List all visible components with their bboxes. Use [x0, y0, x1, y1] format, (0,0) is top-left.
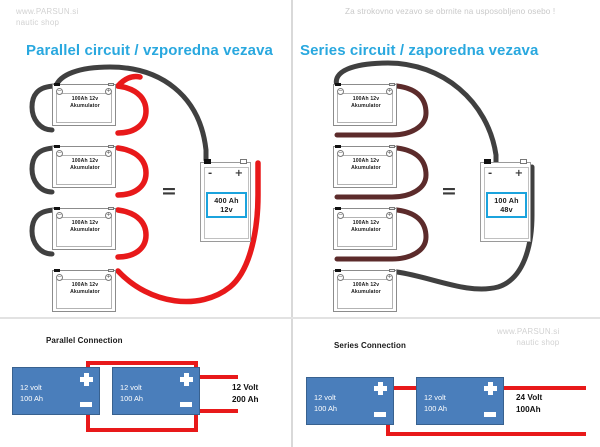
battery-label: 100Ah 12vAkumulator [53, 96, 117, 110]
series-battery-3: − + 100Ah 12vAkumulator [333, 208, 397, 250]
safety-notice: Za strokovno vezavo se obrnite na usposo… [345, 7, 555, 16]
negative-terminal-icon [484, 412, 496, 417]
parallel-bottom-battery-2: 12 volt100 Ah [112, 367, 200, 415]
wire-red-top-stub [118, 76, 140, 86]
parallel-battery-4: − + 100Ah 12vAkumulator [52, 270, 116, 312]
battery-label: 100Ah 12vAkumulator [334, 220, 398, 234]
parallel-wire-top [86, 361, 198, 365]
positive-terminal-icon: + [105, 212, 112, 219]
result-terminal-tab-negative [484, 159, 491, 164]
result-negative-sign: - [208, 169, 212, 178]
negative-terminal-icon: − [56, 150, 63, 157]
parallel-output-negative-wire [198, 409, 238, 413]
negative-terminal-icon: − [56, 88, 63, 95]
terminal-tab-negative [335, 207, 341, 211]
parallel-battery-2: − + 100Ah 12vAkumulator [52, 146, 116, 188]
result-positive-sign: + [235, 169, 243, 178]
battery-label: 100Ah 12vAkumulator [334, 282, 398, 296]
battery-label: 100Ah 12vAkumulator [53, 282, 117, 296]
parallel-wire-bottom-right-rise [194, 412, 198, 432]
series-bottom-battery-2: 12 volt100 Ah [416, 377, 504, 425]
negative-terminal-icon [180, 402, 192, 407]
result-rating-label: 400 Ah12v [206, 192, 247, 218]
positive-terminal-icon: + [386, 274, 393, 281]
battery-label: 100Ah 12vAkumulator [334, 96, 398, 110]
parallel-wire-bottom [86, 428, 198, 432]
parallel-output-label: 12 Volt 200 Ah [232, 382, 259, 406]
terminal-tab-positive [108, 207, 114, 211]
battery-rating-label: 12 volt100 Ah [314, 392, 337, 414]
terminal-tab-negative [335, 145, 341, 149]
wire-red-loop-1 [118, 86, 146, 133]
battery-label: 100Ah 12vAkumulator [53, 158, 117, 172]
positive-terminal-icon [374, 382, 387, 395]
series-battery-4: − + 100Ah 12vAkumulator [333, 270, 397, 312]
terminal-tab-positive [389, 207, 395, 211]
positive-terminal-icon [80, 373, 93, 386]
series-output-label: 24 Volt 100Ah [516, 392, 542, 416]
negative-terminal-icon: − [337, 150, 344, 157]
watermark-top-left: www.PARSUN.si nautic shop [16, 6, 78, 28]
negative-terminal-icon: − [337, 88, 344, 95]
result-rating-label: 100 Ah48v [486, 192, 527, 218]
positive-terminal-icon [484, 382, 497, 395]
terminal-tab-positive [108, 83, 114, 87]
terminal-tab-negative [54, 83, 60, 87]
terminal-tab-positive [389, 269, 395, 273]
parallel-bottom-battery-1: 12 volt100 Ah [12, 367, 100, 415]
battery-rating-label: 12 volt100 Ah [20, 382, 43, 404]
negative-terminal-icon [374, 412, 386, 417]
terminal-tab-positive [108, 269, 114, 273]
series-battery-2: − + 100Ah 12vAkumulator [333, 146, 397, 188]
horizontal-divider [0, 317, 600, 319]
positive-terminal-icon [180, 373, 193, 386]
result-positive-sign: + [515, 169, 523, 178]
parallel-battery-1: − + 100Ah 12vAkumulator [52, 84, 116, 126]
terminal-tab-positive [389, 83, 395, 87]
negative-terminal-icon: − [56, 212, 63, 219]
positive-terminal-icon: + [105, 88, 112, 95]
negative-terminal-icon: − [337, 274, 344, 281]
terminal-tab-negative [335, 269, 341, 273]
series-bottom-battery-1: 12 volt100 Ah [306, 377, 394, 425]
parallel-equals-sign: = [161, 182, 177, 201]
positive-terminal-icon: + [386, 212, 393, 219]
positive-terminal-icon: + [386, 150, 393, 157]
terminal-tab-negative [54, 269, 60, 273]
watermark-bottom-right: www.PARSUN.si nautic shop [497, 326, 559, 348]
parallel-wire-bottom-left-rise [86, 412, 90, 432]
parallel-connection-title: Parallel Connection [46, 336, 123, 345]
result-terminal-tab-negative [204, 159, 211, 164]
negative-terminal-icon [80, 402, 92, 407]
series-output-negative-wire [386, 432, 586, 436]
terminal-tab-positive [108, 145, 114, 149]
negative-terminal-icon: − [337, 212, 344, 219]
terminal-tab-negative [54, 145, 60, 149]
series-connection-title: Series Connection [334, 341, 406, 350]
positive-terminal-icon: + [386, 88, 393, 95]
terminal-tab-negative [335, 83, 341, 87]
result-terminal-tab-positive [240, 159, 247, 164]
battery-label: 100Ah 12vAkumulator [53, 220, 117, 234]
negative-terminal-icon: − [56, 274, 63, 281]
battery-rating-label: 12 volt100 Ah [424, 392, 447, 414]
battery-label: 100Ah 12vAkumulator [334, 158, 398, 172]
result-terminal-tab-positive [520, 159, 527, 164]
series-battery-1: − + 100Ah 12vAkumulator [333, 84, 397, 126]
wire-red-loop-3 [118, 210, 146, 257]
battery-rating-label: 12 volt100 Ah [120, 382, 143, 404]
diagram-canvas: www.PARSUN.si nautic shop www.PARSUN.si … [0, 0, 600, 447]
positive-terminal-icon: + [105, 150, 112, 157]
parallel-battery-3: − + 100Ah 12vAkumulator [52, 208, 116, 250]
positive-terminal-icon: + [105, 274, 112, 281]
series-equals-sign: = [441, 182, 457, 201]
series-result-battery: - + 100 Ah48v [480, 162, 531, 242]
terminal-tab-positive [389, 145, 395, 149]
parallel-result-battery: - + 400 Ah12v [200, 162, 251, 242]
result-negative-sign: - [488, 169, 492, 178]
parallel-output-positive-wire [198, 375, 238, 379]
wire-red-loop-2 [118, 148, 146, 195]
terminal-tab-negative [54, 207, 60, 211]
series-output-positive-wire [500, 386, 586, 390]
